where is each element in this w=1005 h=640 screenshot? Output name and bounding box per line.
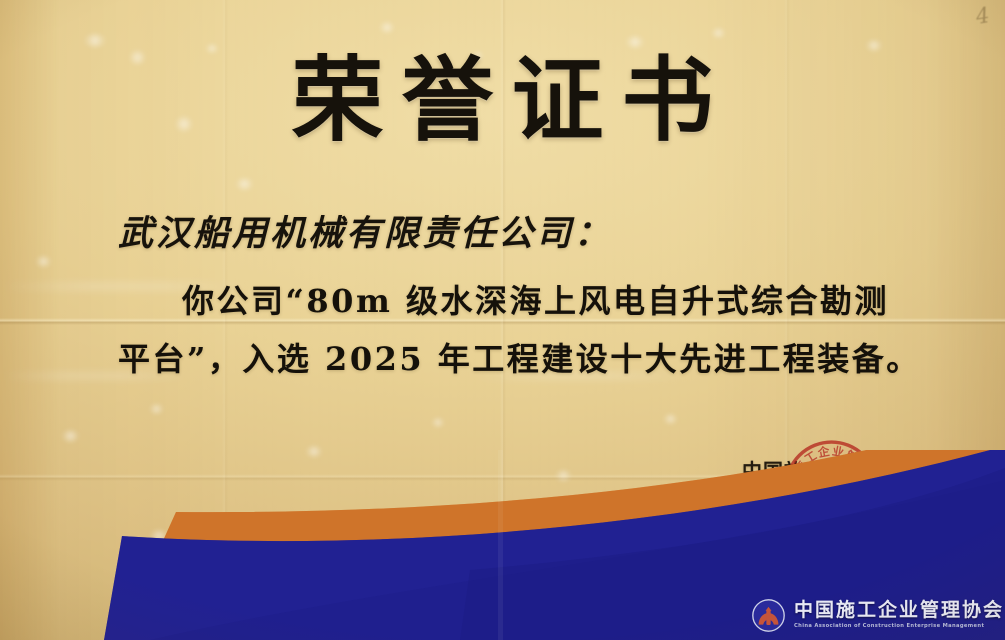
certificate-page: 4 荣誉证书 武汉船用机械有限责任公司： 你公司“80m 级水深海上风电自升式综… [0, 0, 1005, 640]
body-line-1: 你公司“80m 级水深海上风电自升式综合勘测 [118, 272, 908, 330]
page-title: 荣誉证书 [0, 52, 1005, 149]
certificate-body: 你公司“80m 级水深海上风电自升式综合勘测 平台”，入选 2025 年工程建设… [118, 272, 908, 388]
logo-name-cn: 中国施工企业管理协会 [794, 601, 1004, 620]
association-emblem-icon [752, 599, 785, 632]
logo-name-en: China Association of Construction Enterp… [794, 624, 1004, 629]
recipient-name: 武汉船用机械有限责任公司： [118, 205, 612, 256]
association-logo-text: 中国施工企业管理协会 China Association of Construc… [794, 601, 1004, 629]
body-line-2: 平台”，入选 2025 年工程建设十大先进工程装备。 [118, 330, 908, 388]
footer-logo: 中国施工企业管理协会 China Association of Construc… [752, 599, 1004, 632]
